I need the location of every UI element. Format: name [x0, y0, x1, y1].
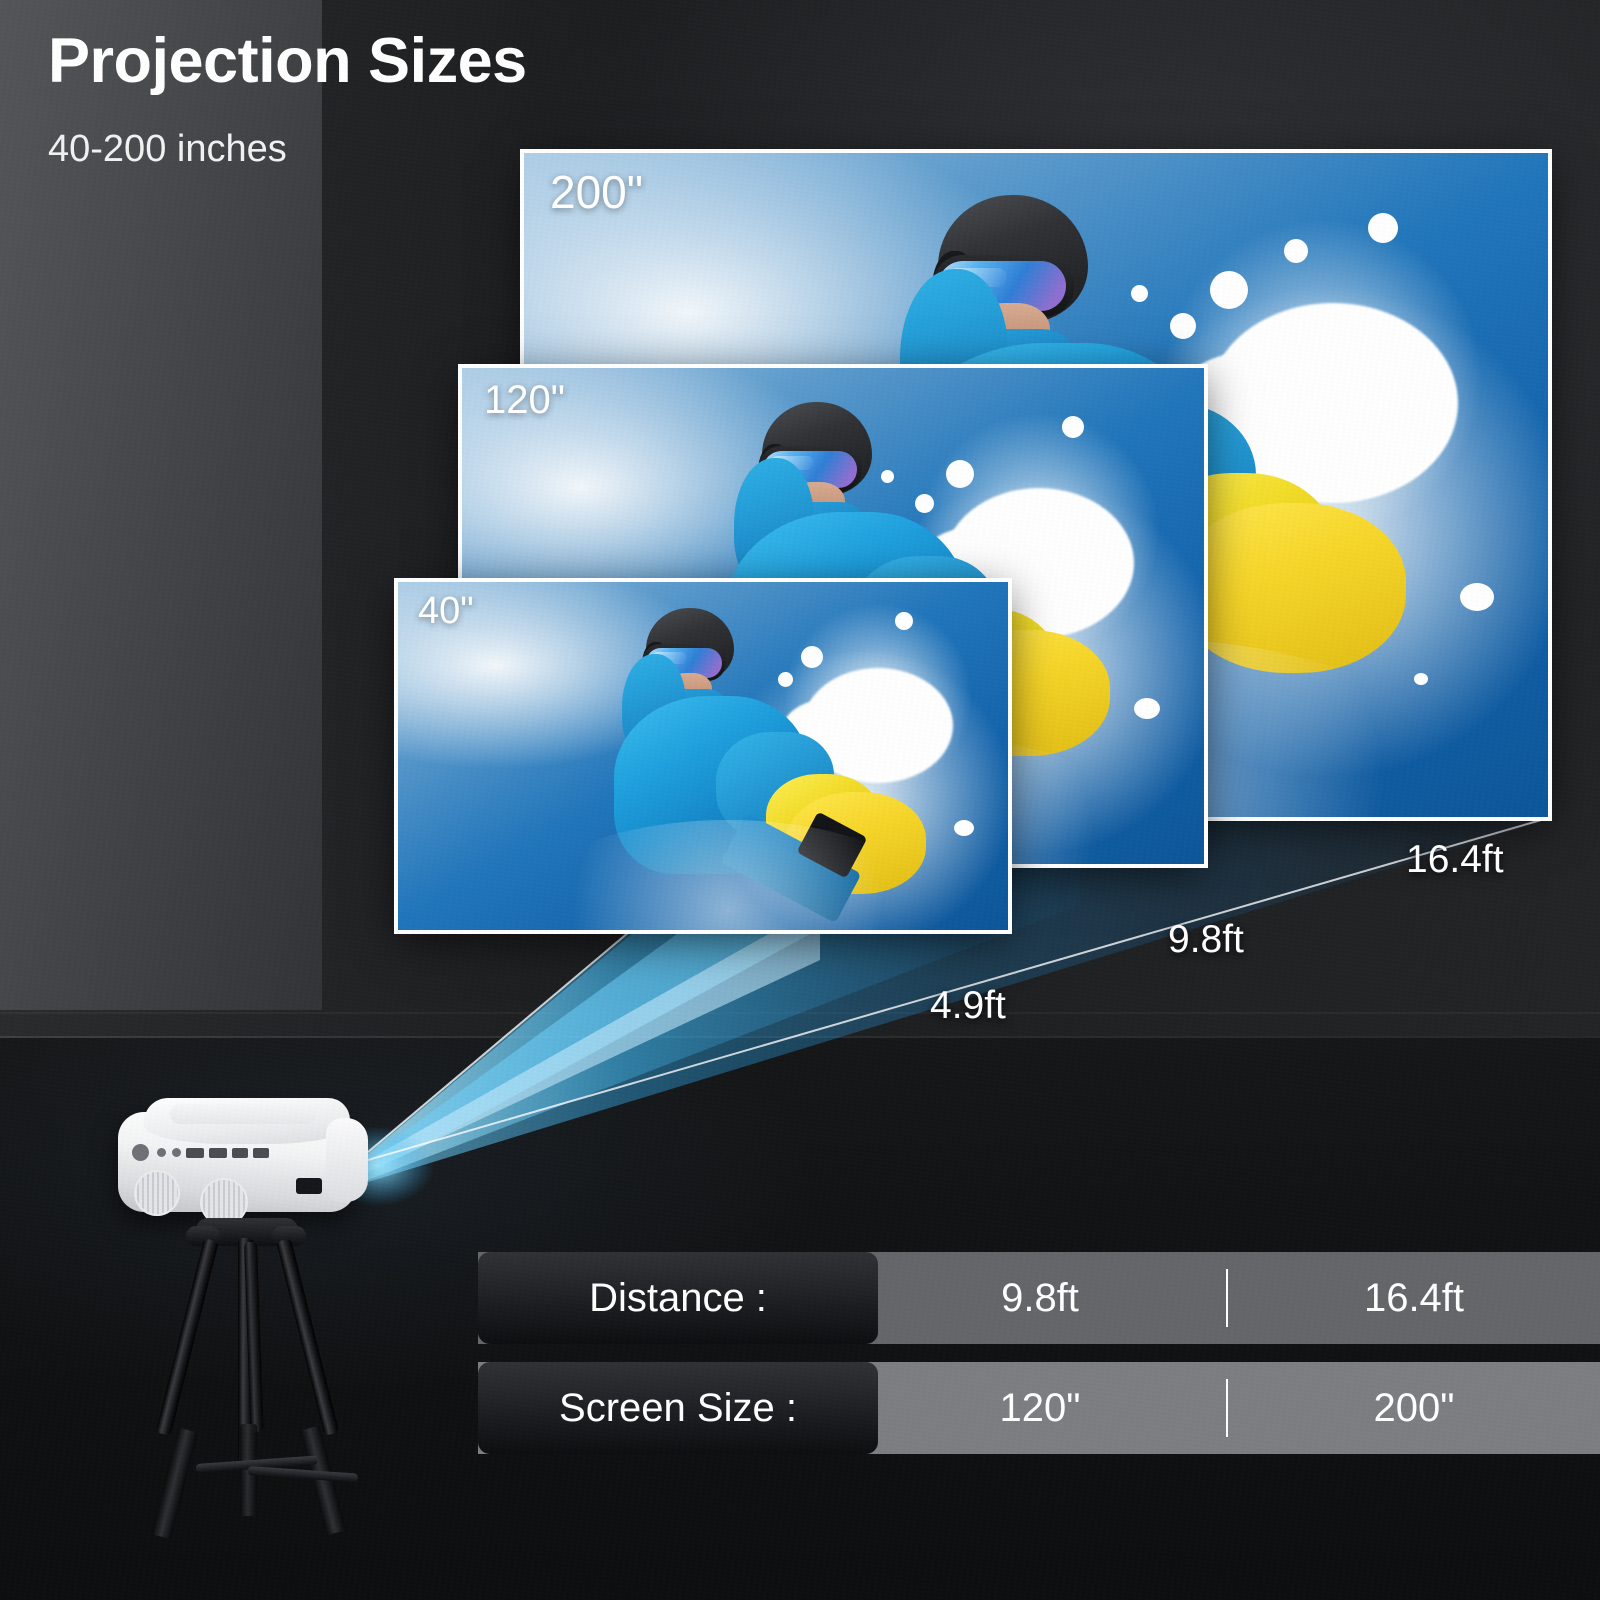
wall-seam [0, 1012, 1600, 1014]
usb-port [209, 1148, 227, 1158]
screen-200-label: 200" [550, 165, 643, 219]
projector-lens [326, 1118, 368, 1202]
projector [118, 1098, 368, 1220]
speaker-grille-left [134, 1170, 180, 1216]
hdmi-port [253, 1148, 269, 1158]
distance-value-2: 9.8ft [854, 1252, 1226, 1344]
screen-120-label: 120" [484, 378, 565, 423]
screen-40: 40" [398, 582, 1008, 930]
distance-label-4-9ft: 4.9ft [930, 984, 1006, 1028]
spec-table: Distance : 4.9ft 9.8ft 16.4ft [478, 1252, 1600, 1344]
page-subtitle: 40-200 inches [48, 128, 287, 171]
row-header-distance: Distance : [478, 1252, 878, 1344]
screen-size-value-2: 120" [854, 1362, 1226, 1454]
projector-control-strip [170, 1104, 316, 1124]
table-row-screen-size: Screen Size : 40" 120" 200" [478, 1362, 1600, 1454]
aux-port [172, 1148, 181, 1157]
infographic-canvas: 200" 120" [0, 0, 1600, 1600]
distance-value-3: 16.4ft [1228, 1252, 1600, 1344]
table-row-distance: Distance : 4.9ft 9.8ft 16.4ft [478, 1252, 1600, 1344]
usb-port [186, 1148, 204, 1158]
ir-sensor [296, 1178, 322, 1194]
hdmi-port [232, 1148, 248, 1158]
row-header-screen-size: Screen Size : [478, 1362, 878, 1454]
aux-port [157, 1148, 166, 1157]
page-title: Projection Sizes [48, 30, 527, 93]
distance-label-9-8ft: 9.8ft [1168, 918, 1244, 962]
focus-knob [132, 1144, 149, 1161]
distance-label-16-4ft: 16.4ft [1406, 838, 1504, 882]
screen-size-value-3: 200" [1228, 1362, 1600, 1454]
screen-40-label: 40" [418, 590, 474, 633]
spec-table-row2-wrap: Screen Size : 40" 120" 200" [478, 1362, 1600, 1454]
